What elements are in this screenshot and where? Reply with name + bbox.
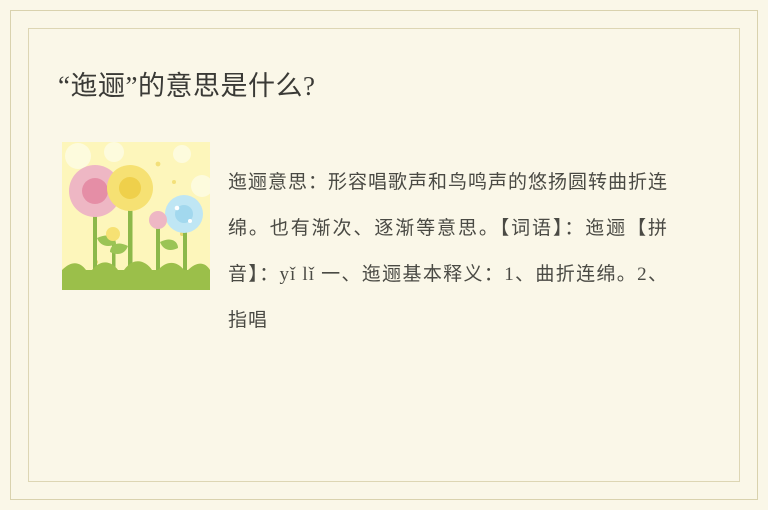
flowers-and-grass-illustration	[62, 142, 210, 290]
document-page: “迤逦”的意思是什么?	[0, 0, 768, 510]
page-title: “迤逦”的意思是什么?	[58, 68, 315, 104]
article-body: 迤逦意思：形容唱歌声和鸟鸣声的悠扬圆转曲折连绵。也有渐次、逐渐等意思。【词语】：…	[228, 160, 668, 344]
